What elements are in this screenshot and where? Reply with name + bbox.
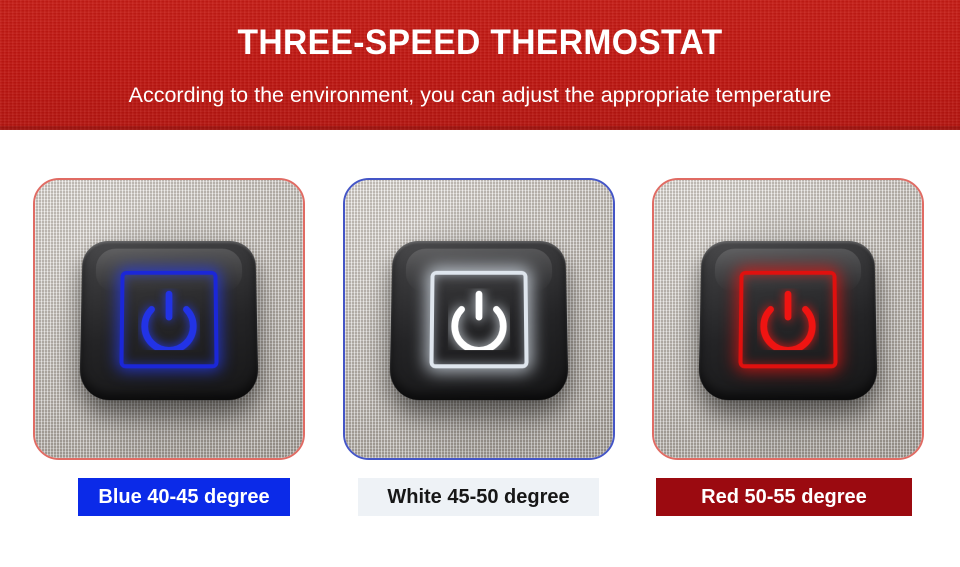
button-pad-red[interactable] (698, 241, 878, 400)
header-banner: THREE-SPEED THERMOSTAT According to the … (0, 0, 960, 130)
label-red: Red 50-55 degree (656, 478, 912, 516)
label-white: White 45-50 degree (358, 478, 599, 516)
label-blue: Blue 40-45 degree (78, 478, 290, 516)
button-pad-blue[interactable] (79, 241, 259, 400)
page-subtitle: According to the environment, you can ad… (0, 82, 960, 108)
power-icon (757, 288, 819, 350)
power-icon (138, 288, 200, 350)
thermostat-card-red[interactable] (652, 178, 924, 460)
thermostat-card-blue[interactable] (33, 178, 305, 460)
page-title: THREE-SPEED THERMOSTAT (19, 22, 941, 64)
thermostat-options: Blue 40-45 degree White 45-50 degree Red… (0, 130, 960, 567)
button-pad-white[interactable] (389, 241, 569, 400)
power-icon (448, 288, 510, 350)
thermostat-card-white[interactable] (343, 178, 615, 460)
